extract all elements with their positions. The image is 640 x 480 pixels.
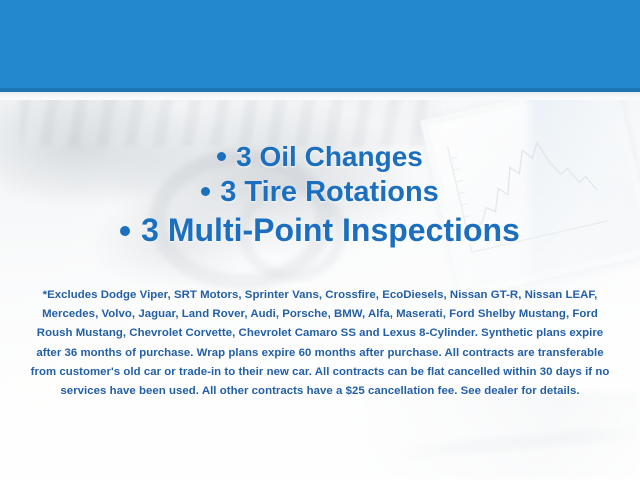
disclaimer-text: *Excludes Dodge Viper, SRT Motors, Sprin… — [26, 286, 614, 401]
header-light-strip — [0, 92, 640, 100]
benefit-label: 3 Oil Changes — [236, 141, 423, 172]
benefit-label: 3 Multi-Point Inspections — [141, 212, 520, 248]
benefits-list: 3 Oil Changes 3 Tire Rotations 3 Multi-P… — [0, 140, 640, 250]
list-item: 3 Tire Rotations — [0, 174, 640, 210]
extracare-package-ad: ExtraCare Package* 3 Oil Changes 3 Tire … — [0, 0, 640, 480]
round-bullet-icon — [120, 226, 130, 236]
list-item: 3 Multi-Point Inspections — [0, 210, 640, 250]
benefit-label: 3 Tire Rotations — [220, 176, 439, 208]
round-bullet-icon — [217, 152, 226, 161]
round-bullet-icon — [201, 187, 210, 196]
list-item: 3 Oil Changes — [0, 140, 640, 174]
header-band — [0, 0, 640, 92]
